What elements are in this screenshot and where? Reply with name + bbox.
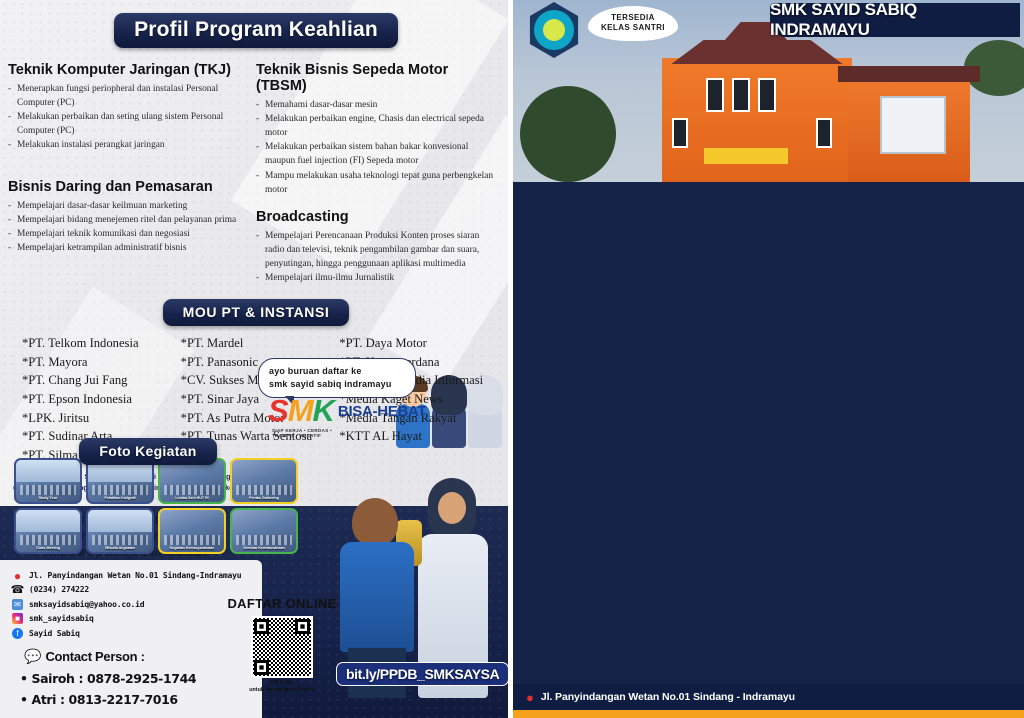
photo-caption: Study Tour (16, 496, 80, 500)
photo-sky (16, 510, 80, 532)
gallery-photo[interactable]: Class Meeting (14, 508, 82, 554)
contact-phone-text: (0234) 274222 (29, 585, 89, 594)
smk-letter-s: S (268, 393, 288, 428)
smk-bisa-hebat-logo: SMK SIAP KERJA • CERDAS • TRAMPIL • KREA… (268, 398, 426, 424)
tersedia-line-1: TERSEDIA (601, 13, 665, 23)
photo-crowd (164, 535, 220, 545)
left-panel: Profil Program Keahlian Teknik Komputer … (0, 0, 512, 718)
tersedia-kelas-santri-badge: TERSEDIA KELAS SANTRI (588, 6, 678, 41)
qr-finder-top-left (254, 619, 269, 634)
building-right-roof (838, 66, 980, 82)
qr-caption-line2: untuk Pendaftaran Online (222, 687, 342, 694)
list-item: Mempelajari Perencanaan Produksi Konten … (256, 229, 496, 271)
contact-email-text: smksayidsabiq@yahoo.co.id (29, 600, 144, 609)
photo-gallery: Study Tour Class Meeting Pelatihan Kalig… (14, 458, 296, 554)
girl-face (438, 492, 466, 524)
list-item: Mempelajari teknik komunikasi dan negosi… (8, 227, 248, 241)
gallery-photo[interactable]: Wisuda Angkatan (86, 508, 154, 554)
smk-wordmark: SMK (268, 398, 334, 424)
window-shape (816, 118, 832, 148)
photo-sky (88, 510, 152, 532)
program-tbsm-points: Memahami dasar-dasar mesin Melakukan per… (256, 98, 496, 197)
contact-person-heading: Contact Person : (45, 649, 144, 664)
logo-inner-shape (543, 19, 565, 41)
bubble-line-1: ayo buruan daftar ke (269, 365, 405, 378)
foto-kegiatan-title-wrap: Foto Kegiatan (0, 438, 296, 465)
list-item: *PT. Epson Indonesia (22, 390, 181, 409)
photo-caption: Lomba Seni HUT RI (160, 496, 224, 500)
list-item: Melakukan perbaikan engine, Chasis dan e… (256, 112, 496, 140)
photo-crowd (164, 485, 220, 495)
list-item: *PT. Mardel (181, 334, 340, 353)
school-name-text: SMK SAYID SABIQ INDRAMAYU (770, 0, 1020, 40)
list-item: *PT. Telkom Indonesia (22, 334, 181, 353)
right-panel: TERSEDIA KELAS SANTRI SMK SAYID SABIQ IN… (512, 0, 1024, 718)
profil-title-wrap: Profil Program Keahlian (0, 0, 512, 48)
footer-orange-bar (512, 710, 1024, 718)
list-item: Memahami dasar-dasar mesin (256, 98, 496, 112)
program-column-right: Teknik Bisnis Sepeda Motor (TBSM) Memaha… (256, 52, 504, 285)
contact-row-address: ● Jl. Panyindangan Wetan No.01 Sindang-I… (12, 570, 262, 581)
qr-finder-bottom-left (254, 660, 269, 675)
list-item: *KTT AL Hayat (339, 427, 498, 446)
location-pin-icon: ● (12, 570, 23, 581)
footer-address-bar: ● Jl. Panyindangan Wetan No.01 Sindang -… (512, 684, 1024, 710)
program-broadcasting-points: Mempelajari Perencanaan Produksi Konten … (256, 229, 496, 285)
bubble-line-2: smk sayid sabiq indramayu (269, 378, 405, 391)
window-shape (758, 78, 776, 112)
gallery-photo[interactable]: Seminar Kewirausahaan (230, 508, 298, 554)
photo-column-4: Pentas Gathering Seminar Kewirausahaan (230, 458, 298, 554)
photo-crowd (236, 535, 292, 545)
photo-crowd (92, 485, 148, 495)
daftar-online-block: DAFTAR ONLINE QR Code untuk Pendaftaran … (222, 596, 342, 695)
qr-caption-line1: QR Code (222, 680, 342, 687)
smk-sub-label: BISA-HEBAT (338, 403, 426, 424)
list-item: *PT. Chang Jui Fang (22, 371, 181, 390)
profil-program-title: Profil Program Keahlian (114, 13, 398, 48)
panel-divider (508, 0, 513, 718)
photo-column-3: Lomba Seni HUT RI Kegiatan Kemasyarakata… (158, 458, 226, 554)
foto-kegiatan-title: Foto Kegiatan (79, 438, 216, 465)
contact-row-phone: ☎ (0234) 274222 (12, 584, 262, 595)
smk-tagline: SIAP KERJA • CERDAS • TRAMPIL • KREATIF (272, 428, 334, 438)
boy-uniform (340, 542, 414, 652)
list-item: Mempelajari dasar-dasar keilmuan marketi… (8, 199, 248, 213)
list-item: Menerapkan fungsi periopheral dan instal… (8, 82, 248, 110)
list-item: Melakukan perbaikan dan seting ulang sis… (8, 110, 248, 138)
photo-crowd (20, 535, 76, 545)
list-item: *PT. Mayora (22, 353, 181, 372)
contact-address-text: Jl. Panyindangan Wetan No.01 Sindang-Ind… (29, 571, 241, 580)
window-shape (706, 78, 724, 112)
boy-head (352, 498, 398, 546)
photo-crowd (20, 485, 76, 495)
photo-caption: Class Meeting (16, 546, 80, 550)
location-pin-icon: ● (526, 690, 534, 705)
photo-caption: Pelatihan Kaligrafi (88, 496, 152, 500)
window-shape (672, 118, 688, 148)
program-keahlian-grid: Teknik Komputer Jaringan (TKJ) Menerapka… (0, 52, 512, 285)
list-item: *PT. Daya Motor (339, 334, 498, 353)
program-bdp-points: Mempelajari dasar-dasar keilmuan marketi… (8, 199, 248, 255)
photo-caption: Kegiatan Kemasyarakatan (160, 546, 224, 550)
tersedia-line-2: KELAS SANTRI (601, 23, 665, 33)
list-item: Melakukan instalasi perangkat jaringan (8, 138, 248, 152)
tree-shape (520, 86, 616, 182)
photo-caption: Wisuda Angkatan (88, 546, 152, 550)
qr-code[interactable] (251, 616, 313, 678)
entrance-banner (704, 148, 788, 164)
smk-letter-k: K (313, 393, 334, 428)
mou-title-wrap: MOU PT & INSTANSI (0, 299, 512, 326)
program-tkj-points: Menerapkan fungsi periopheral dan instal… (8, 82, 248, 153)
school-banner-board (880, 96, 946, 154)
school-logo (526, 2, 582, 58)
photo-caption: Pentas Gathering (232, 496, 296, 500)
contact-instagram-text: smk_sayidsabiq (29, 614, 94, 623)
email-icon: ✉ (12, 599, 23, 610)
list-item: Melakukan perbaikan sistem bahan bakar k… (256, 140, 496, 168)
facebook-icon: f (12, 628, 23, 639)
school-name-header: SMK SAYID SABIQ INDRAMAYU (770, 3, 1020, 37)
photo-caption: Seminar Kewirausahaan (232, 546, 296, 550)
photo-column-1: Study Tour Class Meeting (14, 458, 82, 554)
logo-outer-shape (526, 2, 582, 58)
photo-column-2: Pelatihan Kaligrafi Wisuda Angkatan (86, 458, 154, 554)
mou-title: MOU PT & INSTANSI (163, 299, 350, 326)
photo-crowd (92, 535, 148, 545)
program-broadcasting-heading: Broadcasting (256, 209, 496, 225)
daftar-online-title: DAFTAR ONLINE (222, 596, 342, 611)
program-tbsm-heading: Teknik Bisnis Sepeda Motor (TBSM) (256, 62, 496, 94)
smk-letter-m: M (288, 393, 313, 428)
list-item: *LPK. Jiritsu (22, 409, 181, 428)
contact-facebook-text: Sayid Sabiq (29, 629, 80, 638)
logo-middle-shape (534, 10, 574, 50)
chat-bubble-icon: 💬 (24, 648, 41, 665)
qr-finder-top-right (295, 619, 310, 634)
list-item: Mampu melakukan usaha teknologi tepat gu… (256, 169, 496, 197)
list-item: Mempelajari bidang menejemen ritel dan p… (8, 213, 248, 227)
instagram-icon: ■ (12, 613, 23, 624)
photo-crowd (236, 485, 292, 495)
bitly-link[interactable]: bit.ly/PPDB_SMKSAYSA (336, 662, 509, 686)
footer-address-text: Jl. Panyindangan Wetan No.01 Sindang - I… (541, 691, 795, 703)
window-shape (732, 78, 750, 112)
telephone-icon: ☎ (12, 584, 23, 595)
program-column-left: Teknik Komputer Jaringan (TKJ) Menerapka… (8, 52, 256, 285)
program-tkj-heading: Teknik Komputer Jaringan (TKJ) (8, 62, 248, 78)
brochure-poster: Profil Program Keahlian Teknik Komputer … (0, 0, 1024, 718)
gallery-photo[interactable]: Kegiatan Kemasyarakatan (158, 508, 226, 554)
list-item: Mempelajari ketrampilan administratif bi… (8, 241, 248, 255)
list-item: Mempelajari ilmu-ilmu Jurnalistik (256, 271, 496, 285)
program-bdp-heading: Bisnis Daring dan Pemasaran (8, 179, 248, 195)
